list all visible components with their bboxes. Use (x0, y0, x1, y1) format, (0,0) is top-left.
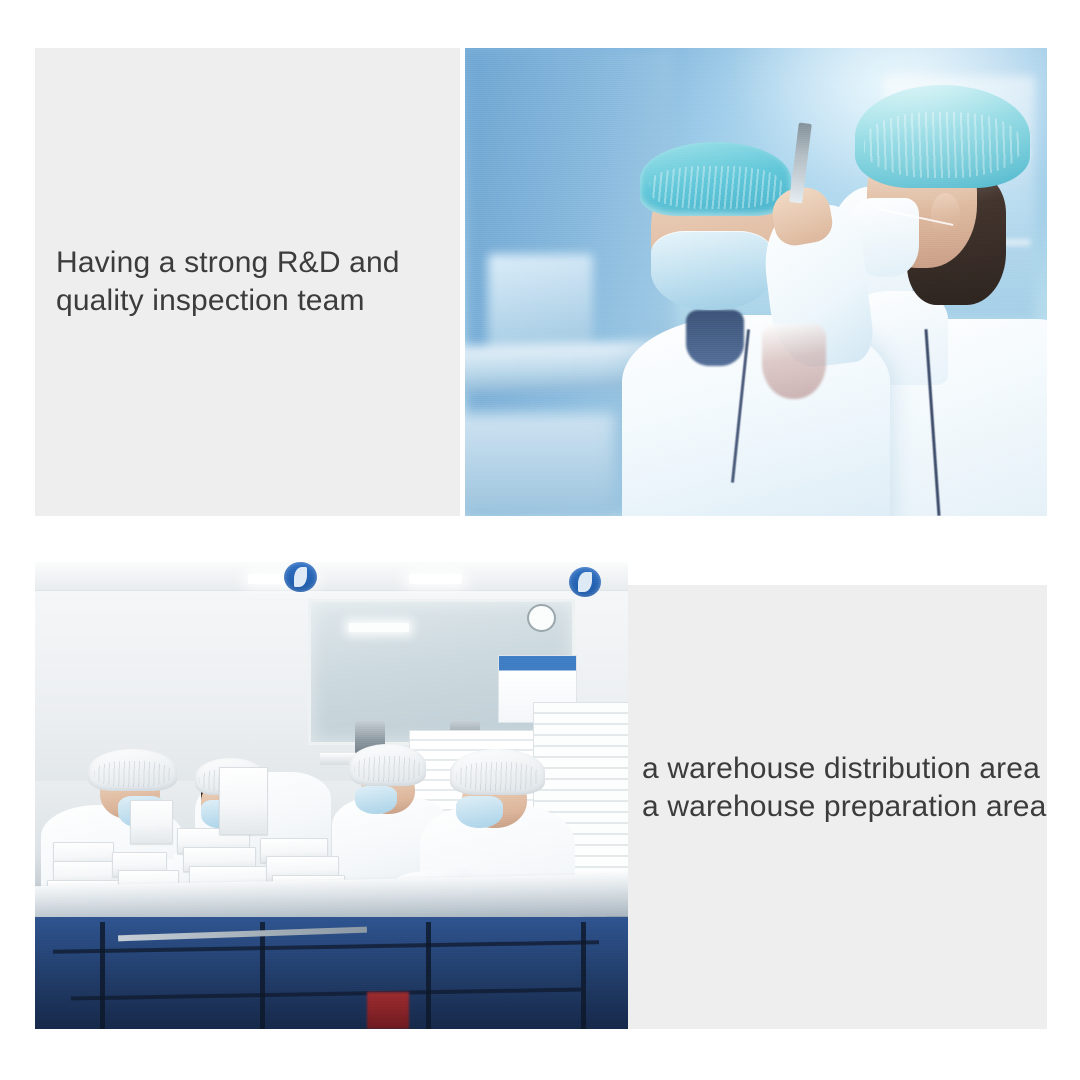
warehouse-packing-area-photo (35, 562, 628, 1029)
warehouse-red-floor-accent (367, 992, 409, 1029)
warehouse-worker-c-hairnet (349, 744, 426, 786)
warehouse-worker-a-hairnet (88, 749, 177, 791)
warehouse-worker-d-face-mask (456, 796, 503, 829)
lab-worker1-hairnet (640, 142, 791, 217)
warehouse-caption-line-2: a warehouse preparation area (642, 788, 1046, 826)
lab-background-counter-lower (465, 413, 616, 516)
laboratory-quality-inspection-photo (465, 48, 1047, 516)
rnd-caption-line-1: Having a strong R&D and (56, 244, 400, 282)
warehouse-table-leg (100, 922, 105, 1029)
lab-glass-flask (762, 324, 826, 399)
lab-worker1-face-mask (651, 231, 773, 311)
rnd-caption-line-2: quality inspection team (56, 282, 400, 320)
warehouse-ceiling-light-2 (409, 574, 462, 584)
rnd-text-panel: Having a strong R&D and quality inspecti… (35, 48, 460, 516)
lab-worker2-hairnet (855, 85, 1030, 188)
rnd-caption: Having a strong R&D and quality inspecti… (56, 244, 400, 321)
warehouse-table-leg (581, 922, 586, 1029)
lab-background-cabinet (488, 254, 593, 357)
warehouse-caption: a warehouse distribution area a warehous… (642, 750, 1046, 827)
warehouse-worker-d-hairnet (450, 749, 545, 796)
warehouse-table-leg (260, 922, 265, 1029)
warehouse-ceiling (35, 562, 628, 591)
warehouse-text-panel: a warehouse distribution area a warehous… (628, 585, 1047, 1029)
warehouse-logo-sign-1 (284, 562, 317, 592)
collage-canvas: Having a strong R&D and quality inspecti… (0, 0, 1080, 1080)
warehouse-caption-line-1: a warehouse distribution area (642, 750, 1046, 788)
lab-worker1-collar (686, 310, 744, 366)
warehouse-table-leg (426, 922, 431, 1029)
warehouse-window-light (349, 623, 408, 632)
warehouse-logo-sign-2 (569, 567, 602, 597)
warehouse-carton-tall (219, 767, 268, 834)
lab-worker2-ear (931, 193, 960, 235)
warehouse-worker-c-face-mask (355, 786, 397, 814)
warehouse-carton-tall (130, 800, 174, 844)
